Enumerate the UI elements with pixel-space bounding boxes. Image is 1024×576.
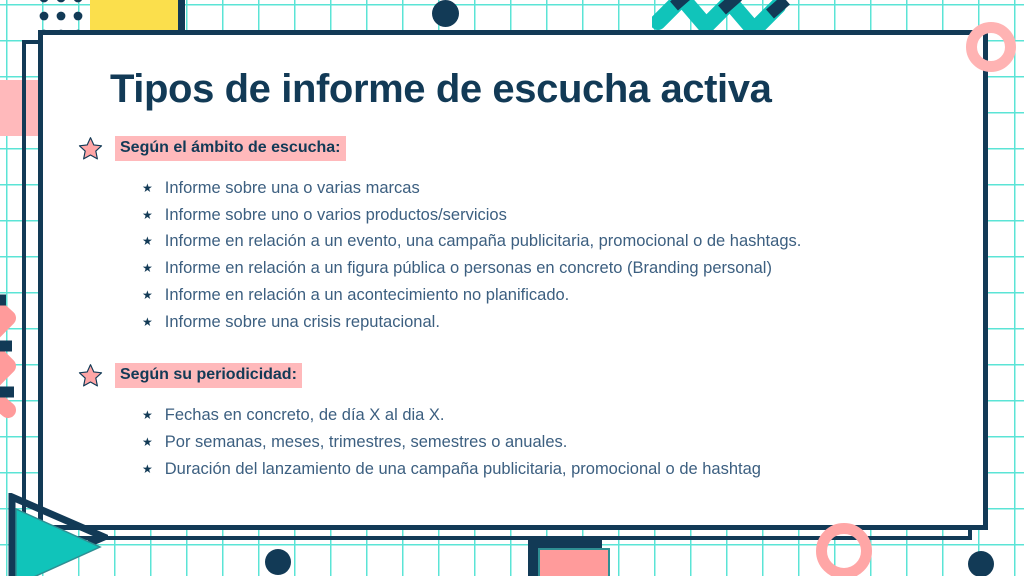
list-item: ★ Duración del lanzamiento de una campañ… bbox=[142, 456, 948, 483]
star-bullet-icon: ★ bbox=[142, 460, 153, 479]
list-item: ★ Fechas en concreto, de día X al dia X. bbox=[142, 402, 948, 429]
star-bullet-icon: ★ bbox=[142, 406, 153, 425]
list-item-label: Fechas en concreto, de día X al dia X. bbox=[165, 402, 445, 429]
star-bullet-icon: ★ bbox=[142, 232, 153, 251]
page-title: Tipos de informe de escucha activa bbox=[110, 68, 948, 110]
bullet-list-periodicidad: ★ Fechas en concreto, de día X al dia X.… bbox=[110, 402, 948, 482]
list-item: ★ Informe en relación a un acontecimient… bbox=[142, 282, 948, 309]
list-item-label: Informe en relación a un acontecimiento … bbox=[165, 282, 570, 309]
section-heading-row: Según su periodicidad: bbox=[78, 363, 948, 388]
star-bullet-icon: ★ bbox=[142, 286, 153, 305]
star-icon bbox=[78, 363, 103, 388]
section-title-ambito: Según el ámbito de escucha: bbox=[115, 136, 346, 161]
star-icon bbox=[78, 136, 103, 161]
star-bullet-icon: ★ bbox=[142, 206, 153, 225]
list-item: ★ Informe en relación a un evento, una c… bbox=[142, 228, 948, 255]
star-bullet-icon: ★ bbox=[142, 179, 153, 198]
section-periodicidad: Según su periodicidad: ★ Fechas en concr… bbox=[110, 363, 948, 482]
list-item: ★ Informe sobre una crisis reputacional. bbox=[142, 309, 948, 336]
navy-circle-decoration-bottom-right bbox=[968, 551, 994, 576]
navy-circle-decoration-bottom bbox=[265, 549, 291, 575]
list-item-label: Informe en relación a un evento, una cam… bbox=[165, 228, 802, 255]
star-bullet-icon: ★ bbox=[142, 313, 153, 332]
navy-circle-decoration bbox=[432, 0, 459, 27]
bullet-list-ambito: ★ Informe sobre una o varias marcas ★ In… bbox=[110, 175, 948, 335]
section-heading-row: Según el ámbito de escucha: bbox=[78, 136, 948, 161]
section-ambito: Según el ámbito de escucha: ★ Informe so… bbox=[110, 136, 948, 335]
list-item: ★ Informe en relación a un figura públic… bbox=[142, 255, 948, 282]
slide-canvas: Tipos de informe de escucha activa Según… bbox=[0, 0, 1024, 576]
list-item-label: Informe sobre una crisis reputacional. bbox=[165, 309, 440, 336]
star-bullet-icon: ★ bbox=[142, 433, 153, 452]
section-title-periodicidad: Según su periodicidad: bbox=[115, 363, 302, 388]
pink-ring-decoration-bottom bbox=[816, 523, 872, 576]
list-item-label: Informe sobre una o varias marcas bbox=[165, 175, 420, 202]
list-item-label: Informe en relación a un figura pública … bbox=[165, 255, 772, 282]
list-item: ★ Informe sobre uno o varios productos/s… bbox=[142, 202, 948, 229]
list-item: ★ Por semanas, meses, trimestres, semest… bbox=[142, 429, 948, 456]
list-item-label: Duración del lanzamiento de una campaña … bbox=[165, 456, 761, 483]
list-item: ★ Informe sobre una o varias marcas bbox=[142, 175, 948, 202]
star-bullet-icon: ★ bbox=[142, 259, 153, 278]
slide-content: Tipos de informe de escucha activa Según… bbox=[38, 30, 988, 530]
list-item-label: Por semanas, meses, trimestres, semestre… bbox=[165, 429, 568, 456]
list-item-label: Informe sobre uno o varios productos/ser… bbox=[165, 202, 507, 229]
pink-rectangle-decoration bbox=[538, 548, 610, 576]
